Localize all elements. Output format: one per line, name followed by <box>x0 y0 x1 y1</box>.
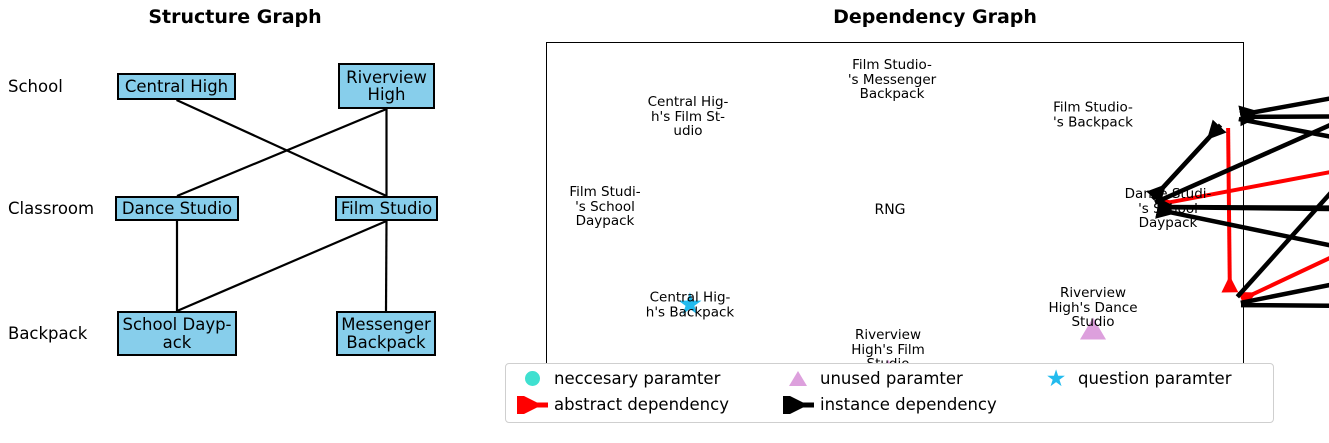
dependency-node-label: RNG <box>874 202 905 218</box>
legend-item-instance: instance dependency <box>776 395 997 414</box>
dependency-node-rng[interactable]: RNG <box>860 180 920 240</box>
structure-node-label: RiverviewHigh <box>346 69 427 104</box>
legend-label: abstract dependency <box>554 395 729 414</box>
legend-label: neccesary paramter <box>554 369 720 388</box>
structure-node-dance-studio[interactable]: Dance Studio <box>115 196 239 221</box>
dependency-node-ch_backpack[interactable]: ★Central Hig-h's Backpack <box>660 275 720 335</box>
dependency-node-ch_film_studio[interactable]: Central Hig-h's Film St-udio <box>658 87 718 147</box>
dependency-node-fs_school_daypack[interactable]: Film Studi-'s SchoolDaypack <box>575 177 635 237</box>
question-star-icon: ★ <box>677 292 704 318</box>
unused-triangle-icon <box>875 341 901 360</box>
dependency-node-ds_school_daypack[interactable]: Dance Studi-'s SchoolDaypack <box>1138 179 1198 239</box>
structure-node-riverview-high[interactable]: RiverviewHigh <box>338 63 435 109</box>
dependency-node-fs_backpack[interactable]: Film Studio-'s Backpack <box>1063 85 1123 145</box>
unused-triangle-icon <box>776 371 820 386</box>
neccesary-circle-icon <box>510 371 554 386</box>
unused-triangle-icon <box>1080 299 1106 318</box>
dependency-node-fs_messenger[interactable]: Film Studio-'s MessengerBackpack <box>862 50 922 110</box>
dependency-node-label: Central Hig-h's Film St-udio <box>648 95 729 139</box>
legend-item-unused: unused paramter <box>776 369 963 388</box>
dependency-node-label: Film Studi-'s SchoolDaypack <box>569 185 640 229</box>
legend-label: question paramter <box>1078 369 1232 388</box>
structure-node-central-high[interactable]: Central High <box>117 73 236 100</box>
legend-item-question: ★ question paramter <box>1034 369 1232 388</box>
structure-node-film-studio[interactable]: Film Studio <box>335 196 438 221</box>
structure-node-label: MessengerBackpack <box>341 316 431 351</box>
structure-node-school-daypack[interactable]: School Dayp-ack <box>117 311 237 356</box>
legend-label: unused paramter <box>820 369 963 388</box>
structure-node-label: School Dayp-ack <box>122 316 231 351</box>
dependency-node-rh_dance_studio[interactable]: RiverviewHigh's DanceStudio <box>1063 278 1123 338</box>
structure-graph-panel: Structure Graph School Classroom Backpac… <box>0 0 470 443</box>
legend: neccesary paramter unused paramter ★ que… <box>505 363 1274 423</box>
legend-item-neccesary: neccesary paramter <box>510 369 720 388</box>
structure-node-messenger-backpack[interactable]: MessengerBackpack <box>336 311 436 356</box>
structure-node-label: Central High <box>125 78 228 95</box>
dependency-node-label: Film Studio-'s Backpack <box>1053 100 1133 129</box>
structure-node-label: Film Studio <box>341 200 432 217</box>
structure-node-label: Dance Studio <box>122 200 232 217</box>
question-star-icon: ★ <box>1034 370 1078 388</box>
legend-label: instance dependency <box>820 395 997 414</box>
abstract-arrow-icon <box>510 396 554 414</box>
legend-item-abstract: abstract dependency <box>510 395 729 414</box>
instance-arrow-icon <box>776 396 820 414</box>
